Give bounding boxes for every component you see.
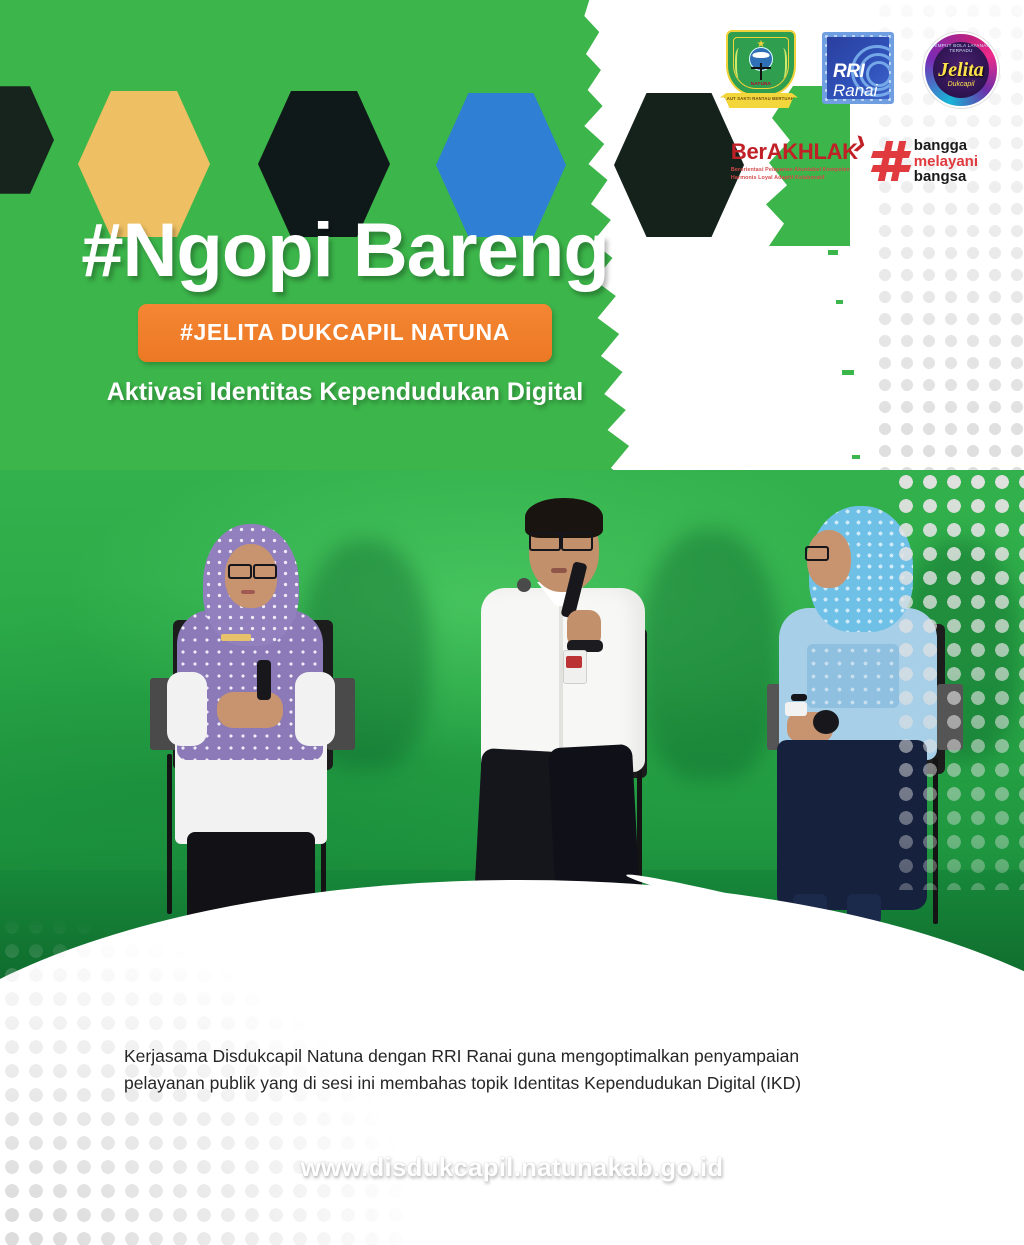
chair-leg	[167, 754, 172, 914]
brush-speckle	[828, 250, 838, 255]
mouth	[241, 590, 255, 594]
glasses-right-lens	[561, 532, 593, 551]
bird-icon	[753, 52, 770, 58]
brush-speckle	[836, 300, 843, 304]
bangga-wordmark: bangga melayani bangsa	[914, 138, 978, 185]
mouth	[551, 568, 567, 573]
page-title: #Ngopi Bareng	[0, 212, 690, 290]
lapel-pin	[517, 578, 531, 592]
page-subtitle: Aktivasi Identitas Kependudukan Digital	[0, 377, 690, 408]
logo-row: ★ NATUNA LAUT SAKTI RANTAU BERTUAH	[720, 30, 998, 110]
rri-inner-panel: RRI Ranai	[827, 37, 889, 99]
paper-note	[785, 702, 807, 716]
microphone	[813, 710, 839, 734]
caption-line-2: pelayanan publik yang di sesi ini membah…	[124, 1070, 914, 1097]
brush-speckle	[852, 455, 860, 459]
crest-motto-ribbon: LAUT SAKTI RANTAU BERTUAH	[720, 93, 798, 108]
sleeve-right	[295, 672, 335, 746]
crest-motto-text: LAUT SAKTI RANTAU BERTUAH	[724, 96, 794, 101]
name-tag	[221, 634, 251, 641]
berakhlak-logo-row: BerAKHLAK ❯ Berorientasi Pelayanan Akunt…	[731, 138, 978, 185]
poster-canvas: #Ngopi Bareng #JELITA DUKCAPIL NATUNA Ak…	[0, 0, 1024, 1245]
berakhlak-subtitle-line-2: Harmonis Loyal Adaptif Kolaboratif	[731, 174, 858, 182]
check-tick-icon: ❯	[852, 132, 869, 153]
jelita-arc-text: JEMPUT BOLA LAYANAN TERPADU	[925, 43, 997, 53]
glasses-left-lens	[228, 564, 252, 579]
wristwatch	[791, 694, 807, 701]
blouse-pattern	[807, 644, 899, 708]
glasses-left-lens	[529, 532, 561, 551]
crest-shield: ★ NATUNA	[726, 30, 796, 96]
website-url[interactable]: www.disdukcapil.natunakab.go.id	[0, 1152, 1024, 1183]
berakhlak-title: BerAKHLAK	[731, 141, 858, 163]
glasses-left-lens	[805, 546, 829, 561]
bangga-line-1: bangga	[914, 138, 978, 154]
glasses-right-lens	[253, 564, 277, 579]
anchor-icon	[760, 63, 762, 80]
bangga-line-2: melayani	[914, 154, 978, 170]
rri-wordmark: RRI	[833, 61, 864, 83]
brush-speckle	[842, 370, 854, 375]
berakhlak-logo: BerAKHLAK ❯ Berorientasi Pelayanan Akunt…	[731, 141, 858, 183]
clasped-hands	[217, 692, 283, 728]
glasses-bridge	[555, 532, 563, 535]
halftone-dots-photo-right	[894, 470, 1024, 890]
hashtag-icon	[874, 141, 908, 181]
bangga-melayani-bangsa-logo: bangga melayani bangsa	[874, 138, 978, 185]
jelita-subtext: Dukcapil	[925, 81, 997, 88]
headline-block: #Ngopi Bareng #JELITA DUKCAPIL NATUNA Ak…	[0, 212, 690, 407]
berakhlak-subtitle-line-1: Berorientasi Pelayanan Akuntabel Kompete…	[731, 166, 858, 174]
caption-block: Kerjasama Disdukcapil Natuna dengan RRI …	[124, 1043, 914, 1097]
wreath-left-icon	[735, 48, 745, 78]
jelita-dukcapil-logo: JEMPUT BOLA LAYANAN TERPADU Jelita Dukca…	[920, 30, 998, 110]
jelita-circle: JEMPUT BOLA LAYANAN TERPADU Jelita Dukca…	[923, 32, 999, 108]
sleeve-left	[167, 672, 207, 746]
rri-ranai-logo: RRI Ranai	[820, 30, 898, 110]
berakhlak-subtitle: Berorientasi Pelayanan Akuntabel Kompete…	[731, 166, 858, 183]
id-badge-photo	[566, 656, 582, 668]
microphone	[257, 660, 271, 700]
natuna-crest-logo: ★ NATUNA LAUT SAKTI RANTAU BERTUAH	[720, 30, 798, 110]
rri-station-name: Ranai	[833, 81, 877, 99]
campaign-badge: #JELITA DUKCAPIL NATUNA	[138, 304, 552, 362]
rri-frame: RRI Ranai	[822, 32, 894, 104]
bangga-line-3: bangsa	[914, 169, 978, 185]
jelita-wordmark: Jelita	[938, 59, 984, 82]
caption-line-1: Kerjasama Disdukcapil Natuna dengan RRI …	[124, 1043, 914, 1070]
crest-word: NATUNA	[728, 81, 794, 86]
wreath-right-icon	[777, 48, 787, 78]
